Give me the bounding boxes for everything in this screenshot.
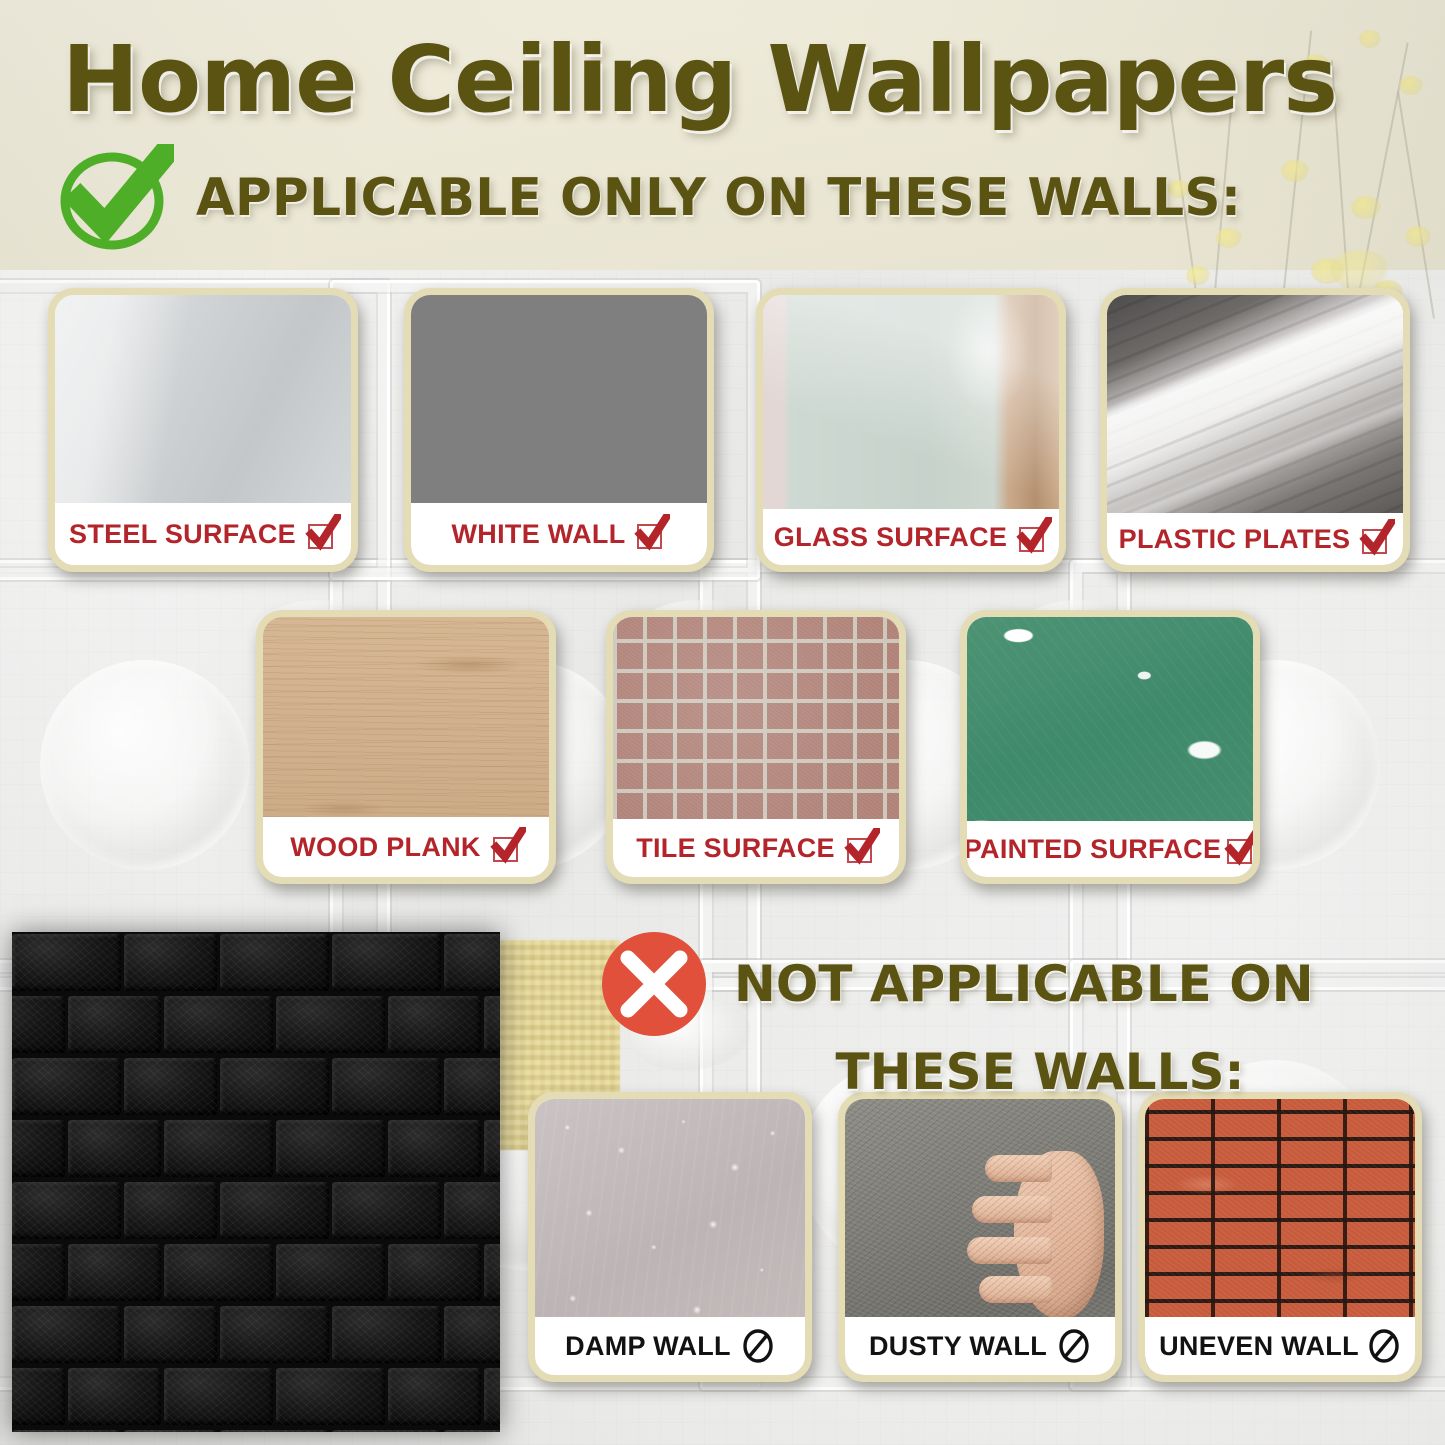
- card-caption: WOOD PLANK: [263, 817, 549, 877]
- brick-tile: [124, 1058, 217, 1115]
- card-caption: PAINTED SURFACE: [967, 821, 1253, 877]
- brick-tile: [444, 1430, 500, 1432]
- prohibited-icon: [1367, 1329, 1401, 1363]
- brick-row: [12, 1180, 500, 1242]
- brick-row: [12, 994, 500, 1056]
- applicable-heading-row: APPLICABLE ONLY ON THESE WALLS:: [0, 126, 1445, 252]
- brick-row: [12, 1242, 500, 1304]
- applicable-card-wood-plank[interactable]: WOOD PLANK: [256, 610, 556, 884]
- card-caption: TILE SURFACE: [613, 819, 899, 877]
- brick-row: [12, 1304, 500, 1366]
- card-label: DAMP WALL: [565, 1331, 731, 1362]
- not-applicable-heading-row: NOT APPLICABLE ON: [600, 930, 1400, 1038]
- card-label: TILE SURFACE: [636, 833, 835, 864]
- card-caption: WHITE WALL: [411, 503, 707, 565]
- brick-tile: [220, 1182, 329, 1239]
- applicable-card-glass-surface[interactable]: GLASS SURFACE: [756, 288, 1066, 572]
- check-in-box-icon: [1225, 834, 1256, 865]
- brick-tile: [12, 1368, 65, 1425]
- brick-row: [12, 932, 500, 994]
- brick-tile: [164, 1368, 273, 1425]
- card-label: DUSTY WALL: [869, 1331, 1047, 1362]
- brick-tile: [220, 1058, 329, 1115]
- brick-tile: [220, 1430, 329, 1432]
- brick-tile: [68, 1120, 161, 1177]
- brick-tile: [124, 1306, 217, 1363]
- brick-tile: [68, 1368, 161, 1425]
- check-in-box-icon: [1017, 522, 1048, 553]
- brick-row: [12, 1428, 500, 1432]
- not-applicable-line-1: NOT APPLICABLE ON: [734, 952, 1314, 1016]
- card-label: PAINTED SURFACE: [964, 834, 1222, 865]
- applicable-card-tile-surface[interactable]: TILE SURFACE: [606, 610, 906, 884]
- brick-row: [12, 1366, 500, 1428]
- card-caption: DAMP WALL: [535, 1317, 805, 1375]
- brick-tile: [444, 1306, 500, 1363]
- card-caption: GLASS SURFACE: [763, 509, 1059, 565]
- card-caption: DUSTY WALL: [845, 1317, 1115, 1375]
- green-check-circle-icon: [56, 144, 174, 252]
- brick-tile: [388, 1368, 481, 1425]
- brick-tile: [276, 1244, 385, 1301]
- brick-tile: [220, 1306, 329, 1363]
- brick-tile: [332, 1430, 441, 1432]
- applicable-heading-text: APPLICABLE ONLY ON THESE WALLS:: [196, 168, 1241, 228]
- brick-row: [12, 1118, 500, 1180]
- check-in-box-icon: [845, 833, 876, 864]
- check-in-box-icon: [306, 519, 337, 550]
- card-label: WHITE WALL: [452, 519, 626, 550]
- brick-tile: [332, 1058, 441, 1115]
- brick-tile: [484, 996, 500, 1053]
- brick-tile: [484, 1244, 500, 1301]
- check-in-box-icon: [1360, 524, 1391, 555]
- applicable-card-painted-surface[interactable]: PAINTED SURFACE: [960, 610, 1260, 884]
- brick-tile: [68, 996, 161, 1053]
- brick-tile: [12, 1306, 121, 1363]
- applicable-card-steel-surface[interactable]: STEEL SURFACE: [48, 288, 358, 572]
- brick-tile: [12, 1244, 65, 1301]
- brick-tile: [444, 1058, 500, 1115]
- brick-tile: [332, 934, 441, 991]
- brick-tile: [164, 1120, 273, 1177]
- card-caption: STEEL SURFACE: [55, 503, 351, 565]
- card-label: GLASS SURFACE: [774, 522, 1007, 553]
- brick-tile: [164, 996, 273, 1053]
- brick-tile: [332, 1182, 441, 1239]
- brick-tile: [484, 1368, 500, 1425]
- brick-tile: [444, 934, 500, 991]
- brick-tile: [276, 1120, 385, 1177]
- brick-tile: [388, 1120, 481, 1177]
- brick-tile: [12, 996, 65, 1053]
- brick-tile: [276, 1368, 385, 1425]
- black-3d-brick-foam-panel: [12, 932, 500, 1432]
- applicable-card-plastic-plates[interactable]: PLASTIC PLATES: [1100, 288, 1410, 572]
- check-in-box-icon: [635, 519, 666, 550]
- brick-tile: [124, 1430, 217, 1432]
- hand-illustration: [958, 1139, 1104, 1344]
- brick-row: [12, 1056, 500, 1118]
- prohibited-icon: [1057, 1329, 1091, 1363]
- brick-tile: [124, 934, 217, 991]
- brick-tile: [276, 996, 385, 1053]
- card-label: WOOD PLANK: [290, 832, 480, 863]
- brick-tile: [388, 1244, 481, 1301]
- brick-tile: [388, 996, 481, 1053]
- brick-tile: [68, 1244, 161, 1301]
- applicable-card-white-wall[interactable]: WHITE WALL: [404, 288, 714, 572]
- not-applicable-line-2: THESE WALLS:: [600, 1040, 1400, 1104]
- card-label: STEEL SURFACE: [69, 519, 296, 550]
- brick-tile: [12, 1182, 121, 1239]
- brick-tile: [484, 1120, 500, 1177]
- card-caption: PLASTIC PLATES: [1107, 513, 1403, 565]
- check-in-box-icon: [491, 832, 522, 863]
- brick-tile: [12, 1058, 121, 1115]
- brick-tile: [12, 1120, 65, 1177]
- header: Home Ceiling Wallpapers APPLICABLE ONLY …: [0, 0, 1445, 252]
- card-caption: UNEVEN WALL: [1145, 1317, 1415, 1375]
- brick-tile: [444, 1182, 500, 1239]
- not-applicable-card-dusty-wall[interactable]: DUSTY WALL: [838, 1092, 1122, 1382]
- brick-tile: [332, 1306, 441, 1363]
- page-title: Home Ceiling Wallpapers: [0, 0, 1445, 126]
- brick-tile: [164, 1244, 273, 1301]
- red-x-circle-icon: [600, 930, 708, 1038]
- brick-tile: [12, 1430, 121, 1432]
- card-label: UNEVEN WALL: [1159, 1331, 1359, 1362]
- not-applicable-card-uneven-wall[interactable]: UNEVEN WALL: [1138, 1092, 1422, 1382]
- not-applicable-card-damp-wall[interactable]: DAMP WALL: [528, 1092, 812, 1382]
- brick-tile: [220, 934, 329, 991]
- not-applicable-heading-block: NOT APPLICABLE ON THESE WALLS:: [600, 930, 1400, 1104]
- prohibited-icon: [741, 1329, 775, 1363]
- card-label: PLASTIC PLATES: [1119, 524, 1351, 555]
- brick-tile: [124, 1182, 217, 1239]
- brick-tile: [12, 934, 121, 991]
